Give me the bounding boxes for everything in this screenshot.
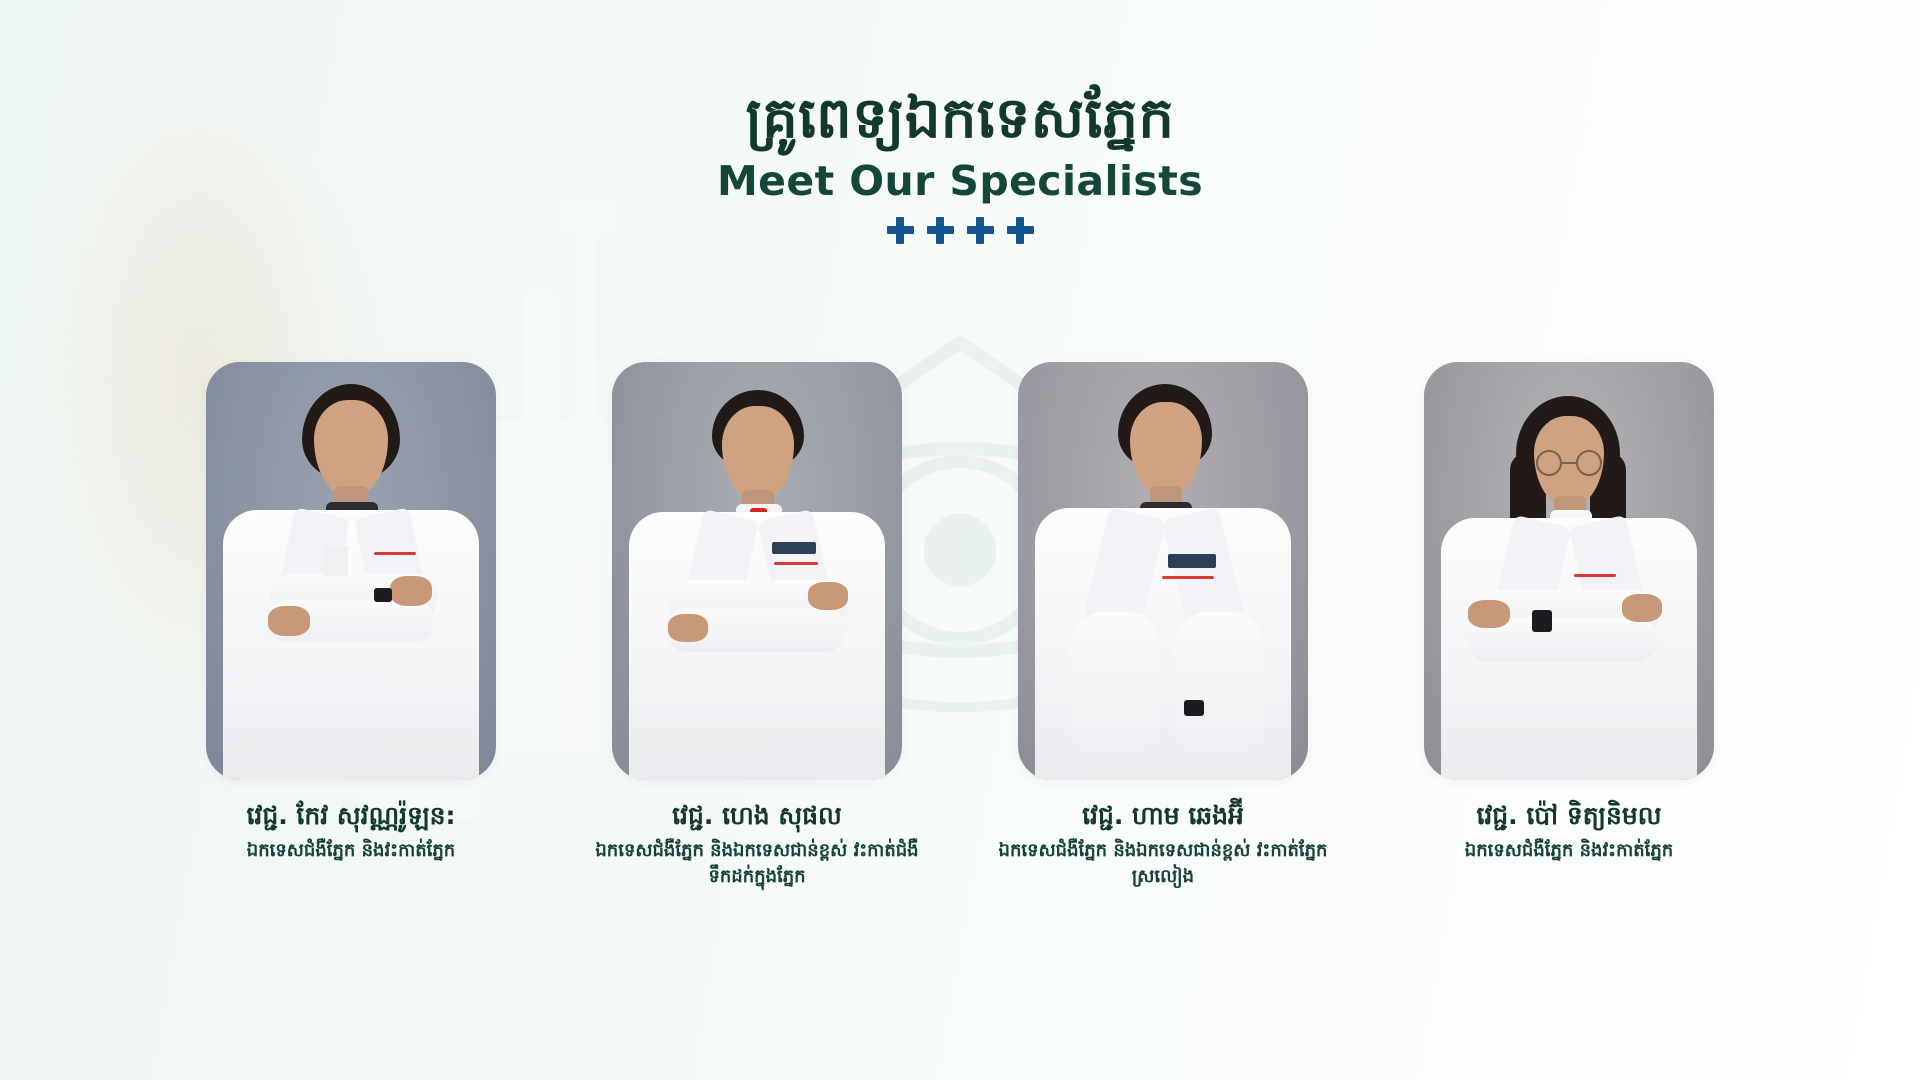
- page-title-english: Meet Our Specialists: [0, 157, 1920, 205]
- specialist-role: ឯកទេសជំងឺភ្នែក និងឯកទេសជាន់ខ្ពស់ វះកាត់ភ…: [998, 838, 1328, 890]
- plus-icon: [1007, 217, 1034, 244]
- plus-icon: [887, 217, 914, 244]
- portrait-figure-4: [1424, 362, 1714, 780]
- specialist-roster: វេជ្ជ. កែវ សុវណ្ណរ៉ូឡន: ឯកទេសជំងឺភ្នែក ន…: [0, 362, 1920, 890]
- specialist-role: ឯកទេសជំងឺភ្នែក និងវះកាត់ភ្នែក: [1404, 838, 1734, 864]
- portrait-figure-3: [1018, 362, 1308, 780]
- specialist-card[interactable]: វេជ្ជ. កែវ សុវណ្ណរ៉ូឡន: ឯកទេសជំងឺភ្នែក ន…: [206, 362, 496, 864]
- specialist-card[interactable]: វេជ្ជ. ប៉ៅ ទិត្យនិមល ឯកទេសជំងឺភ្នែក និងវ…: [1424, 362, 1714, 864]
- page-title-khmer: គ្រូពេទ្យឯកទេសភ្នែក: [0, 88, 1920, 151]
- specialist-card[interactable]: វេជ្ជ. ហេង សុផល ឯកទេសជំងឺភ្នែក និងឯកទេសជ…: [612, 362, 902, 890]
- specialist-role: ឯកទេសជំងឺភ្នែក និងវះកាត់ភ្នែក: [186, 838, 516, 864]
- specialist-name: វេជ្ជ. កែវ សុវណ្ណរ៉ូឡន:: [246, 801, 455, 831]
- specialist-name: វេជ្ជ. ហេង សុផល: [672, 801, 842, 831]
- specialist-photo: [206, 362, 496, 780]
- plus-icon: [927, 217, 954, 244]
- specialist-photo: [1424, 362, 1714, 780]
- heading-block: គ្រូពេទ្យឯកទេសភ្នែក Meet Our Specialists: [0, 88, 1920, 244]
- specialist-name: វេជ្ជ. ហាម ឆេងអ៊ី: [1082, 801, 1244, 831]
- plus-icon: [967, 217, 994, 244]
- portrait-figure-2: [612, 362, 902, 780]
- specialist-card[interactable]: វេជ្ជ. ហាម ឆេងអ៊ី ឯកទេសជំងឺភ្នែក និងឯកទេ…: [1018, 362, 1308, 890]
- portrait-figure-1: [206, 362, 496, 780]
- specialist-photo: [612, 362, 902, 780]
- slide-canvas: PHNOM PENH EyeClinic គ្រូពេទ្យឯកទេសភ្នែក…: [0, 0, 1920, 1080]
- specialist-role: ឯកទេសជំងឺភ្នែក និងឯកទេសជាន់ខ្ពស់ វះកាត់ជ…: [592, 838, 922, 890]
- specialist-photo: [1018, 362, 1308, 780]
- decorative-plus-divider: [0, 217, 1920, 244]
- specialist-name: វេជ្ជ. ប៉ៅ ទិត្យនិមល: [1476, 801, 1661, 831]
